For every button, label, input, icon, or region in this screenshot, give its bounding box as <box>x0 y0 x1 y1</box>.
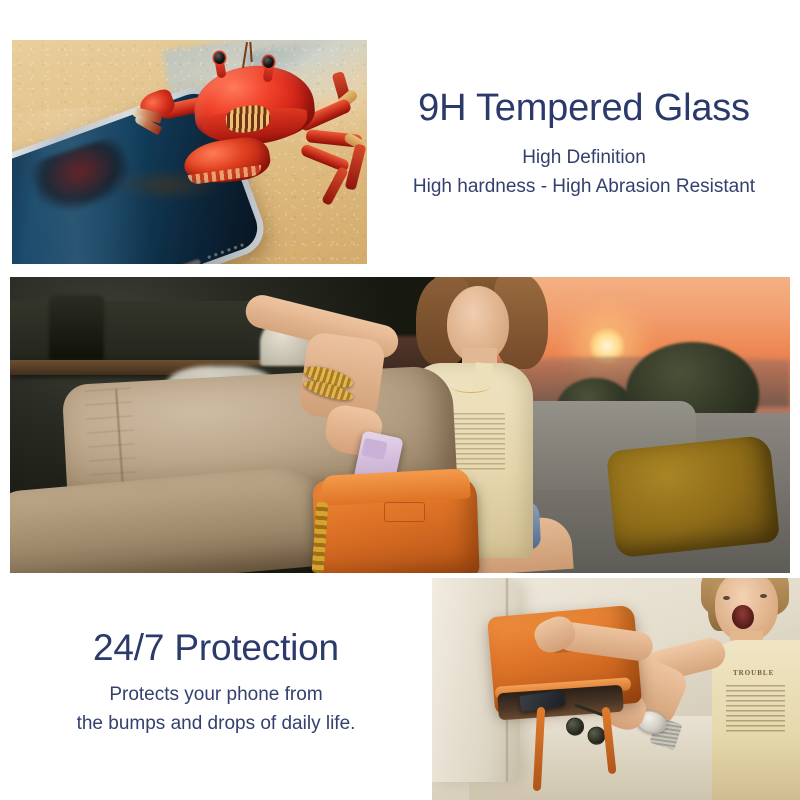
red-crab <box>130 48 366 236</box>
tank-top-word: TROUBLE <box>733 669 774 677</box>
crab-eye <box>263 56 274 68</box>
bottom-headline: 24/7 Protection <box>16 628 416 668</box>
top-subline-1: High Definition <box>378 143 790 172</box>
crab-eye <box>214 52 225 64</box>
mustard-pillow <box>605 434 779 557</box>
tank-top-paragraph-print <box>726 685 785 734</box>
photo-bag-spilling: TROUBLE <box>432 578 800 800</box>
shocked-woman-eye <box>760 594 767 598</box>
top-subline-2: High hardness - High Abrasion Resistant <box>378 172 790 201</box>
bottom-copy-block: 24/7 Protection Protects your phone from… <box>16 628 416 739</box>
bottom-subline-1: Protects your phone from <box>16 680 416 709</box>
product-banner: 9H Tempered Glass High Definition High h… <box>0 0 800 800</box>
sunglass-lens <box>565 716 585 736</box>
bottom-subline-2: the bumps and drops of daily life. <box>16 709 416 738</box>
photo-crab-on-beach <box>12 40 367 264</box>
top-headline: 9H Tempered Glass <box>378 88 790 129</box>
background-vase <box>49 295 104 360</box>
shocked-woman-eye <box>723 596 730 600</box>
top-copy-block: 9H Tempered Glass High Definition High h… <box>378 88 790 202</box>
handbag-tag <box>384 502 425 522</box>
photo-phone-into-bag <box>10 277 790 573</box>
